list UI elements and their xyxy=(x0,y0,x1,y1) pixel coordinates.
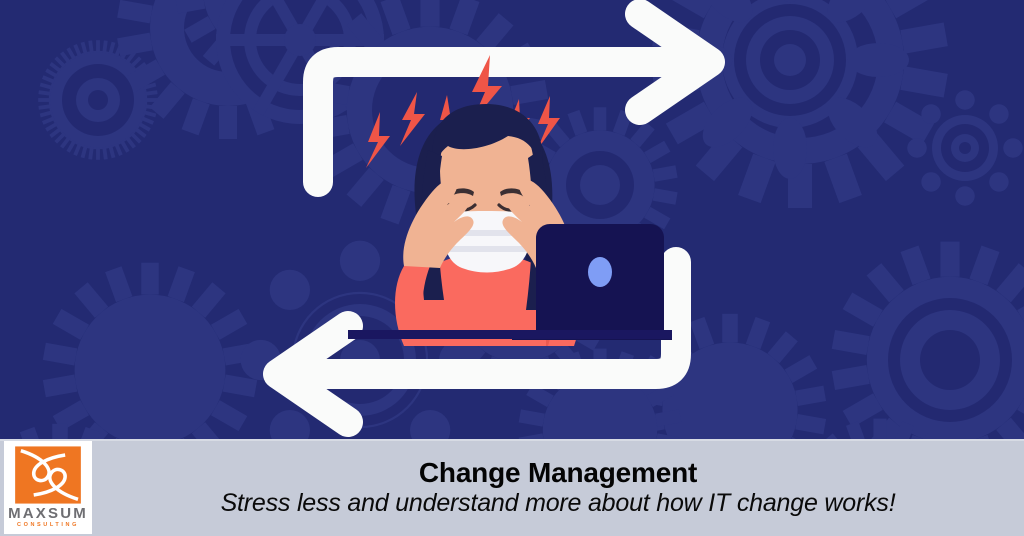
logo-wordmark: MAXSUM xyxy=(8,506,88,521)
lightning-bolt-2 xyxy=(400,92,425,146)
banner-subtitle: Stress less and understand more about ho… xyxy=(221,489,896,518)
banner-title: Change Management xyxy=(419,457,697,488)
face-mask-fold-2 xyxy=(446,246,528,252)
maxsum-swirl-logo-icon xyxy=(12,445,84,505)
image-canvas: MAXSUM CONSULTING Change Management Stre… xyxy=(0,0,1024,536)
desk-surface xyxy=(348,330,672,339)
lightning-bolt-6 xyxy=(366,112,390,168)
banner-text-block: Change Management Stress less and unders… xyxy=(100,443,1016,532)
laptop-logo xyxy=(588,257,612,287)
logo-tagline: CONSULTING xyxy=(17,523,79,529)
banner-top-divider xyxy=(0,439,1024,441)
bottom-caption-banner: MAXSUM CONSULTING Change Management Stre… xyxy=(0,439,1024,536)
maxsum-consulting-logo[interactable]: MAXSUM CONSULTING xyxy=(4,441,92,534)
